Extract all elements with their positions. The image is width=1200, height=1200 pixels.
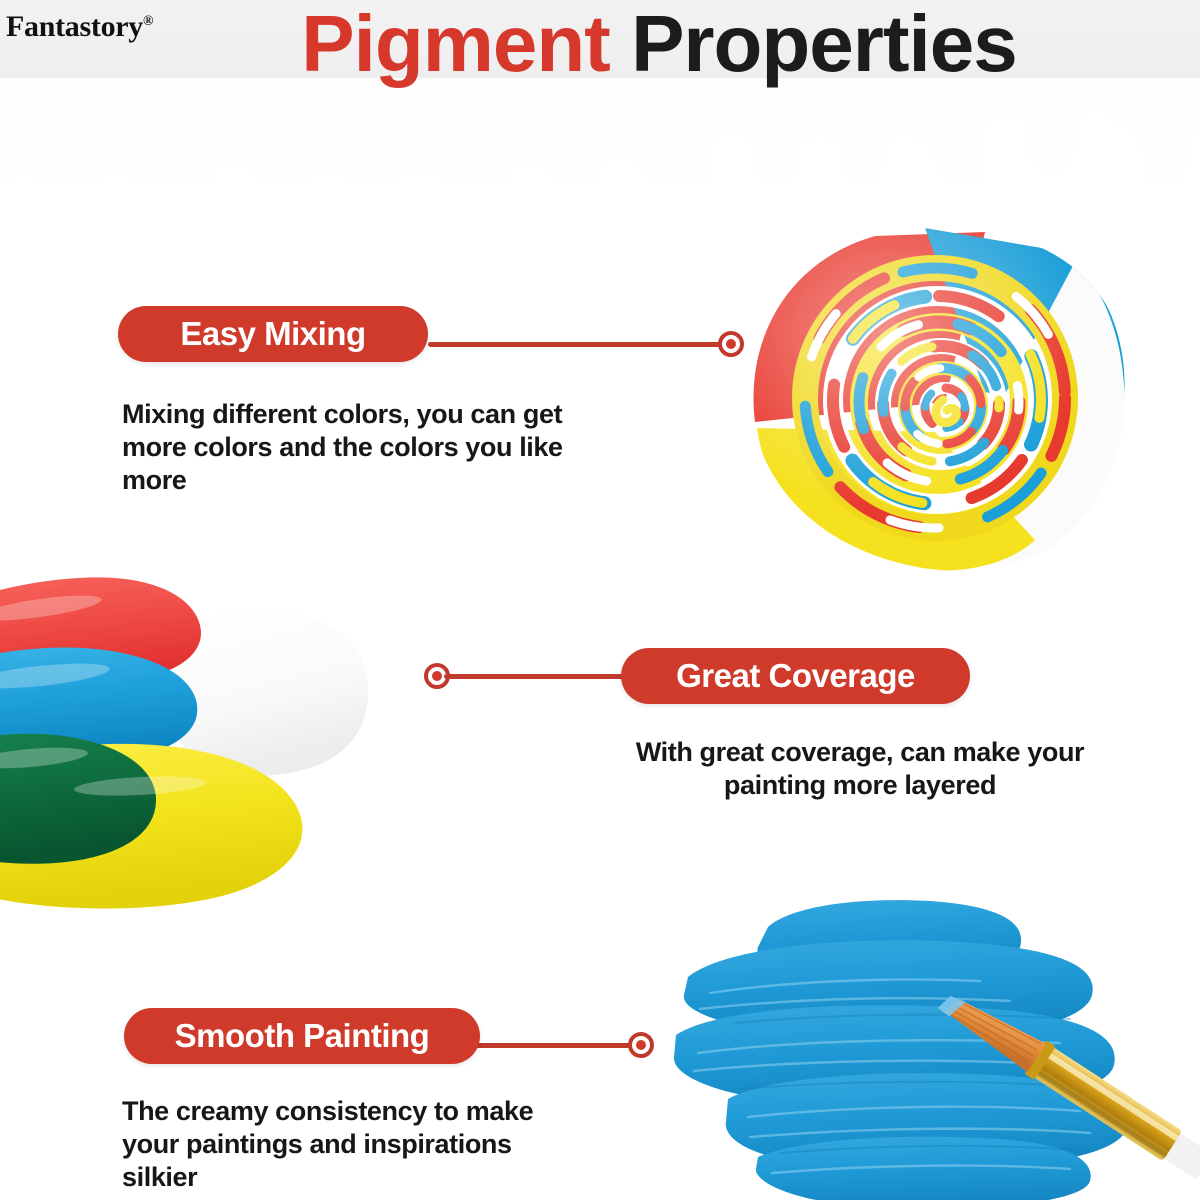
feature-description-smooth-painting: The creamy consistency to make your pain… [122, 1095, 542, 1194]
connector-great-coverage [424, 663, 644, 689]
connector-marker-icon [628, 1032, 654, 1058]
connector-line [428, 342, 728, 347]
connector-line [444, 674, 639, 679]
feature-label-smooth-painting[interactable]: Smooth Painting [124, 1008, 480, 1064]
connector-line [470, 1043, 638, 1048]
feature-label-text: Smooth Painting [175, 1017, 430, 1055]
page-title: Pigment Properties [0, 0, 1200, 92]
feature-description-great-coverage: With great coverage, can make your paint… [600, 736, 1120, 802]
feature-label-easy-mixing[interactable]: Easy Mixing [118, 306, 428, 362]
feature-label-text: Great Coverage [676, 657, 915, 695]
feature-label-text: Easy Mixing [180, 315, 365, 353]
page-title-word-pigment: Pigment [301, 0, 610, 88]
connector-smooth-painting [470, 1032, 670, 1058]
swirled-mixed-paint-blob-image [735, 222, 1135, 572]
registered-trademark-icon: ® [143, 14, 153, 29]
feature-description-easy-mixing: Mixing different colors, you can get mor… [122, 398, 602, 497]
brand-logo-text: Fantastory [6, 10, 143, 43]
brand-logo: Fantastory® [6, 10, 153, 44]
connector-marker-icon [718, 331, 744, 357]
blue-brush-stroke-with-brush-image [640, 885, 1200, 1200]
feature-label-great-coverage[interactable]: Great Coverage [621, 648, 970, 704]
blue-paint-strokes [674, 900, 1127, 1200]
paint-swatch-blobs-image [0, 556, 380, 916]
infographic-page: Fantastory® Pigment Properties [0, 0, 1200, 1200]
page-title-word-properties: Properties [631, 0, 1017, 88]
connector-easy-mixing [428, 331, 758, 357]
